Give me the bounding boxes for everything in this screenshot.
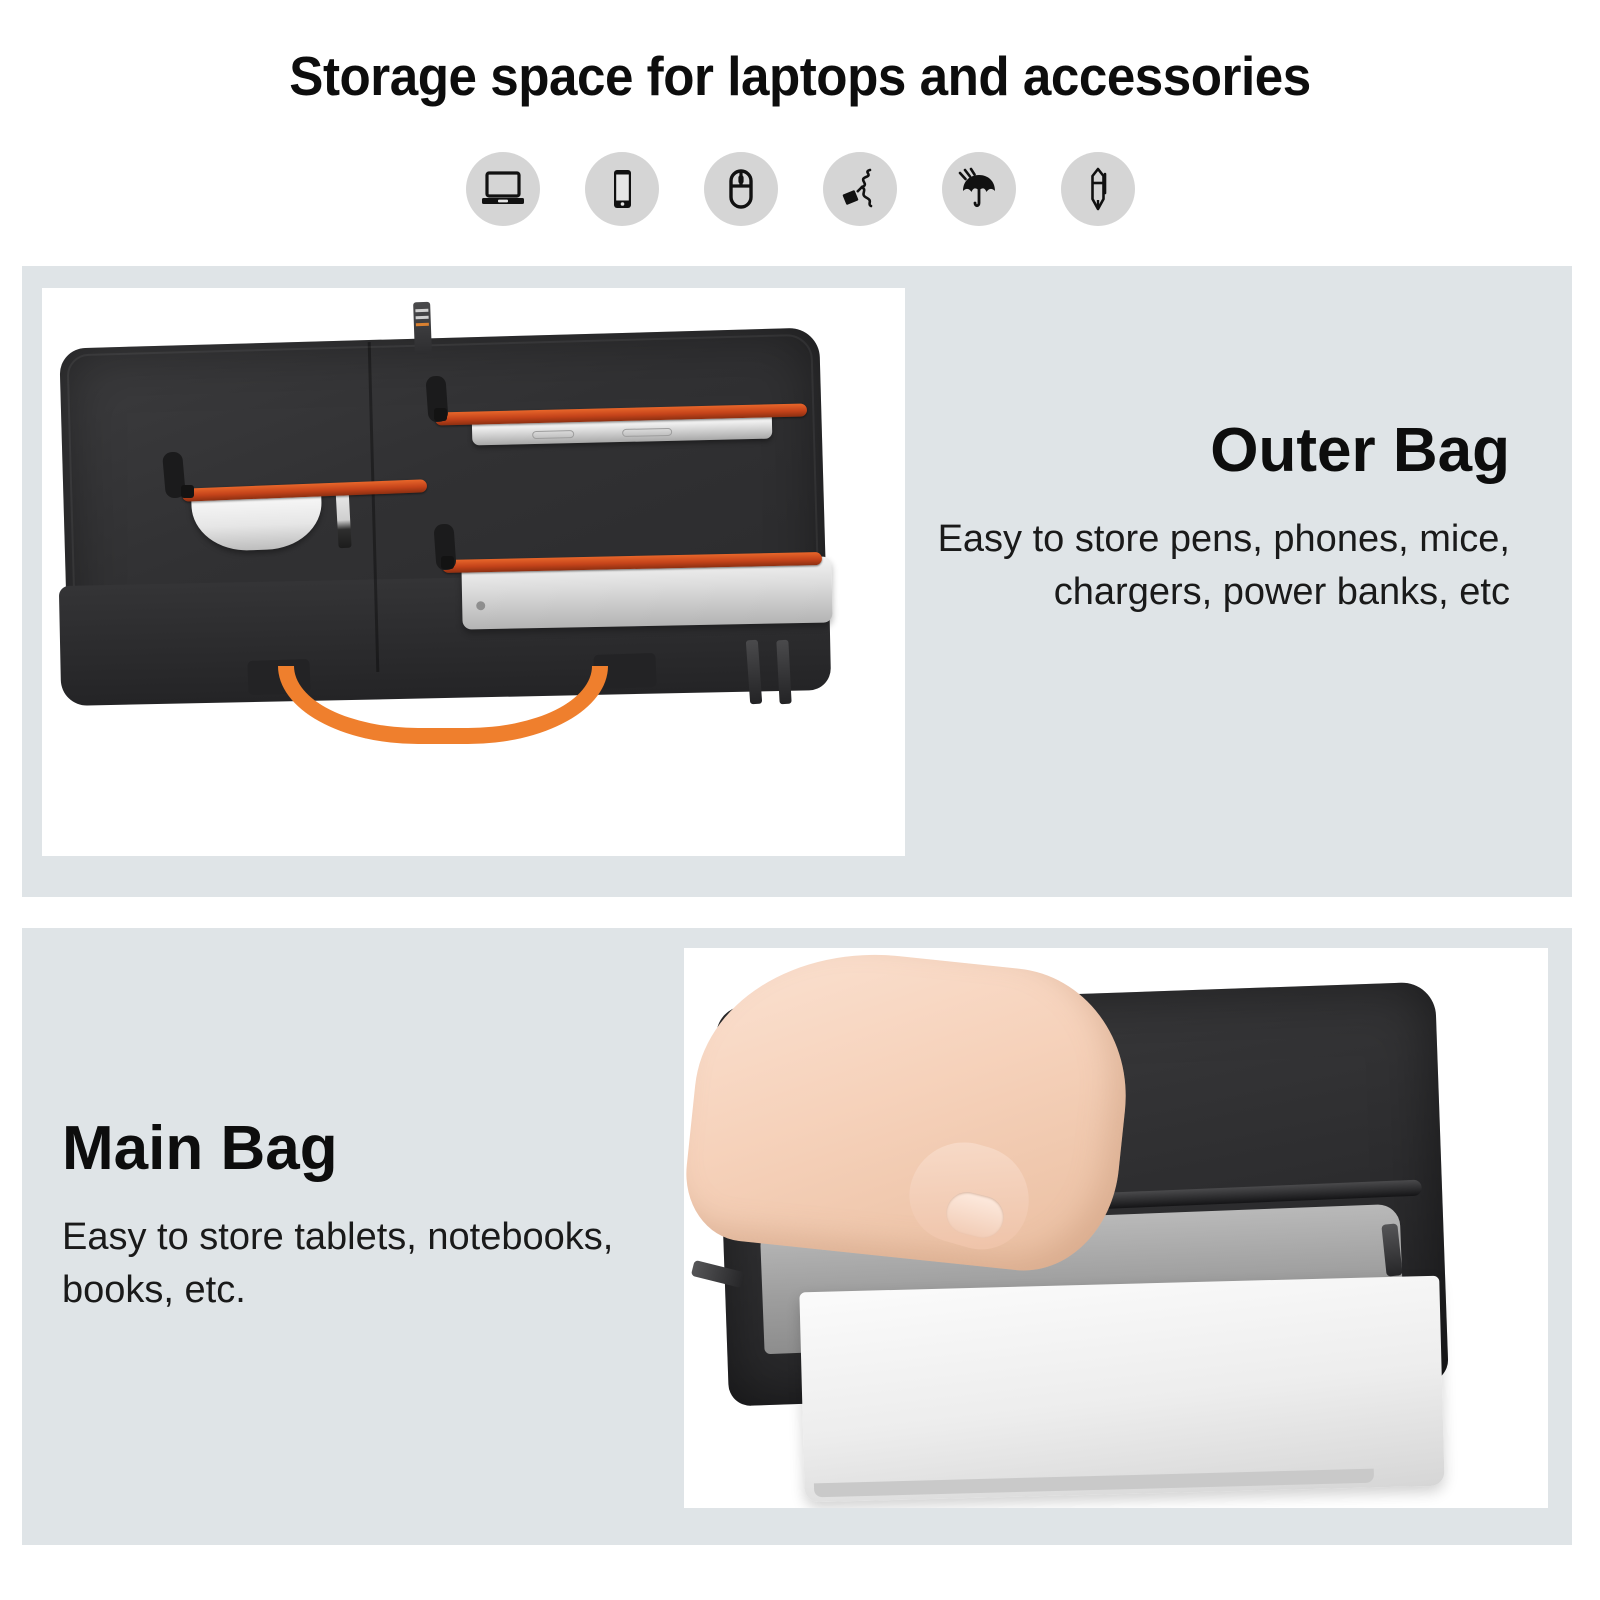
main-bag-panel: Main Bag Easy to store tablets, notebook…	[22, 928, 1572, 1545]
header: Storage space for laptops and accessorie…	[0, 0, 1600, 266]
orange-carry-handle	[278, 666, 608, 744]
zipper-slider-side	[181, 485, 194, 498]
brand-label-tag	[413, 302, 432, 355]
main-bag-copy: Main Bag Easy to store tablets, notebook…	[62, 1116, 622, 1316]
smartphone-icon	[585, 152, 659, 226]
page-title: Storage space for laptops and accessorie…	[56, 44, 1544, 108]
outer-bag-panel: Outer Bag Easy to store pens, phones, mi…	[22, 266, 1572, 897]
main-bag-body: Easy to store tablets, notebooks, books,…	[62, 1211, 622, 1316]
outer-bag-body: Easy to store pens, phones, mice, charge…	[890, 513, 1510, 618]
outer-bag-copy: Outer Bag Easy to store pens, phones, mi…	[890, 418, 1510, 618]
zipper-slider-bottom	[441, 556, 454, 569]
mouse-icon	[704, 152, 778, 226]
zipper-slider-top	[434, 408, 447, 421]
charger-icon	[823, 152, 897, 226]
laptop-icon	[466, 152, 540, 226]
hand	[684, 948, 1139, 1280]
outer-bag-heading: Outer Bag	[890, 418, 1510, 483]
feature-icon-row	[0, 152, 1600, 226]
outer-bag-photo	[42, 288, 905, 856]
main-bag-heading: Main Bag	[62, 1116, 622, 1181]
main-bag-photo	[684, 948, 1548, 1508]
umbrella-icon	[942, 152, 1016, 226]
pen-icon	[1061, 152, 1135, 226]
